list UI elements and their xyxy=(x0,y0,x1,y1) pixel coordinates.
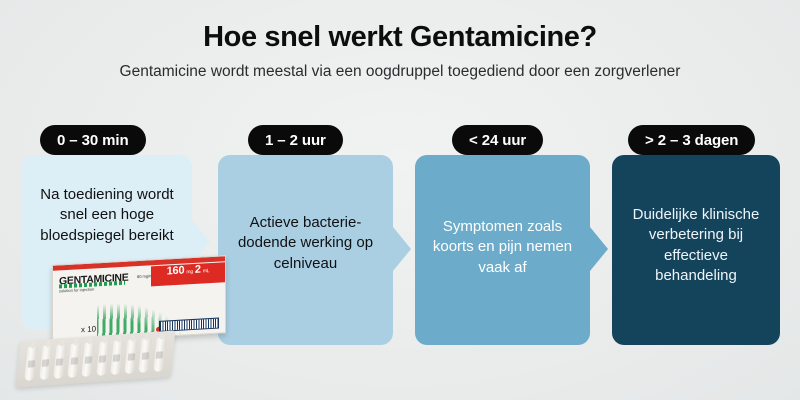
ampoule-icon xyxy=(53,344,67,379)
step-4-badge: > 2 – 3 dagen xyxy=(628,125,755,155)
step-4-text: Duidelijke klinische verbetering bij eff… xyxy=(612,205,780,286)
product-box: GENTAMICINE 80 mg/mL solution for inject… xyxy=(52,255,226,343)
ampoule-icon xyxy=(67,343,81,378)
product-dose-value: 160 xyxy=(167,264,185,277)
step-2-arrow-icon xyxy=(393,227,411,271)
infographic-canvas: Hoe snel werkt Gentamicine? Gentamicine … xyxy=(0,0,800,400)
ampoule-icon xyxy=(153,337,167,372)
step-3-badge: < 24 uur xyxy=(452,125,543,155)
ampoule-icon xyxy=(124,339,138,374)
product-subtitle-label: solution for injection xyxy=(59,286,94,293)
step-1-badge: 0 – 30 min xyxy=(40,125,146,155)
product-volume-unit: mL xyxy=(203,268,210,274)
ampoule-icon xyxy=(82,342,96,377)
product-volume-value: 2 xyxy=(195,264,201,276)
ampoule-icon xyxy=(96,341,110,376)
step-3-text: Symptomen zoals koorts en pijn nemen vaa… xyxy=(415,217,590,278)
ampoule-tray xyxy=(16,330,176,387)
step-2-badge: 1 – 2 uur xyxy=(248,125,343,155)
header: Hoe snel werkt Gentamicine? Gentamicine … xyxy=(0,22,800,83)
ampoule-icon xyxy=(39,345,53,380)
ampoule-icon xyxy=(24,346,38,381)
page-title: Hoe snel werkt Gentamicine? xyxy=(0,22,800,54)
product-dose-label: 160 mg 2 mL xyxy=(151,262,225,286)
ampoule-icon xyxy=(139,338,153,373)
ampoule-icon xyxy=(110,340,124,375)
step-2-text: Actieve bacterie-dodende werking op celn… xyxy=(218,213,393,274)
product-quantity-label: x 10 xyxy=(81,324,96,334)
product-dose-unit: mg xyxy=(186,269,193,275)
step-1-text: Na toediening wordt snel een hoge bloeds… xyxy=(22,185,192,246)
step-3-arrow-icon xyxy=(590,227,608,271)
product-photo: GENTAMICINE 80 mg/mL solution for inject… xyxy=(16,258,226,393)
page-subtitle: Gentamicine wordt meestal via een oogdru… xyxy=(0,62,800,83)
